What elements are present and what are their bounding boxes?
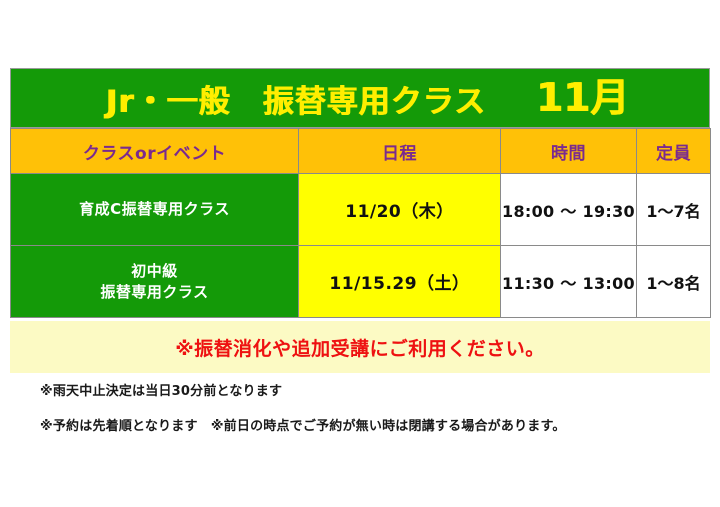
column-header-time: 時間 [501,129,637,174]
cell-schedule: 11/20（木） [299,174,501,246]
column-header-capacity: 定員 [637,129,711,174]
footnote-reservation-policy: ※予約は先着順となります ※前日の時点でご予約が無い時は閉講する場合があります。 [40,415,700,434]
schedule-flyer: Jr・一般 振替専用クラス 11月 クラスorイベント 日程 時間 定員 育成C… [0,0,720,507]
banner-title: Jr・一般 振替専用クラス [106,76,486,121]
class-name-line-1: 初中級 [11,261,298,281]
table-header: クラスorイベント 日程 時間 定員 [11,129,711,174]
highlight-note-band: ※振替消化や追加受講にご利用ください。 [10,321,710,373]
cell-time: 18:00 ～ 19:30 [501,174,637,246]
table-row: 育成C振替専用クラス 11/20（木） 18:00 ～ 19:30 1～7名 [11,174,711,246]
class-name-line-2: 振替専用クラス [11,282,298,302]
footnote-rain-cancellation: ※雨天中止決定は当日30分前となります [40,380,700,399]
footnotes: ※雨天中止決定は当日30分前となります ※予約は先着順となります ※前日の時点で… [40,380,700,434]
table-row: 初中級 振替専用クラス 11/15.29（土） 11:30 ～ 13:00 1～… [11,246,711,318]
cell-capacity: 1～7名 [637,174,711,246]
schedule-table: クラスorイベント 日程 時間 定員 育成C振替専用クラス 11/20（木） 1… [10,128,711,318]
cell-class-name: 初中級 振替専用クラス [11,246,299,318]
highlight-note-text: ※振替消化や追加受講にご利用ください。 [175,334,545,361]
column-header-class-or-event: クラスorイベント [11,129,299,174]
table-body: 育成C振替専用クラス 11/20（木） 18:00 ～ 19:30 1～7名 初… [11,174,711,318]
banner-month: 11月 [536,79,629,118]
class-name-line-1: 育成C振替専用クラス [11,199,298,219]
cell-capacity: 1～8名 [637,246,711,318]
table-header-row: クラスorイベント 日程 時間 定員 [11,129,711,174]
column-header-schedule: 日程 [299,129,501,174]
title-banner: Jr・一般 振替専用クラス 11月 [10,68,710,128]
cell-class-name: 育成C振替専用クラス [11,174,299,246]
cell-schedule: 11/15.29（土） [299,246,501,318]
cell-time: 11:30 ～ 13:00 [501,246,637,318]
